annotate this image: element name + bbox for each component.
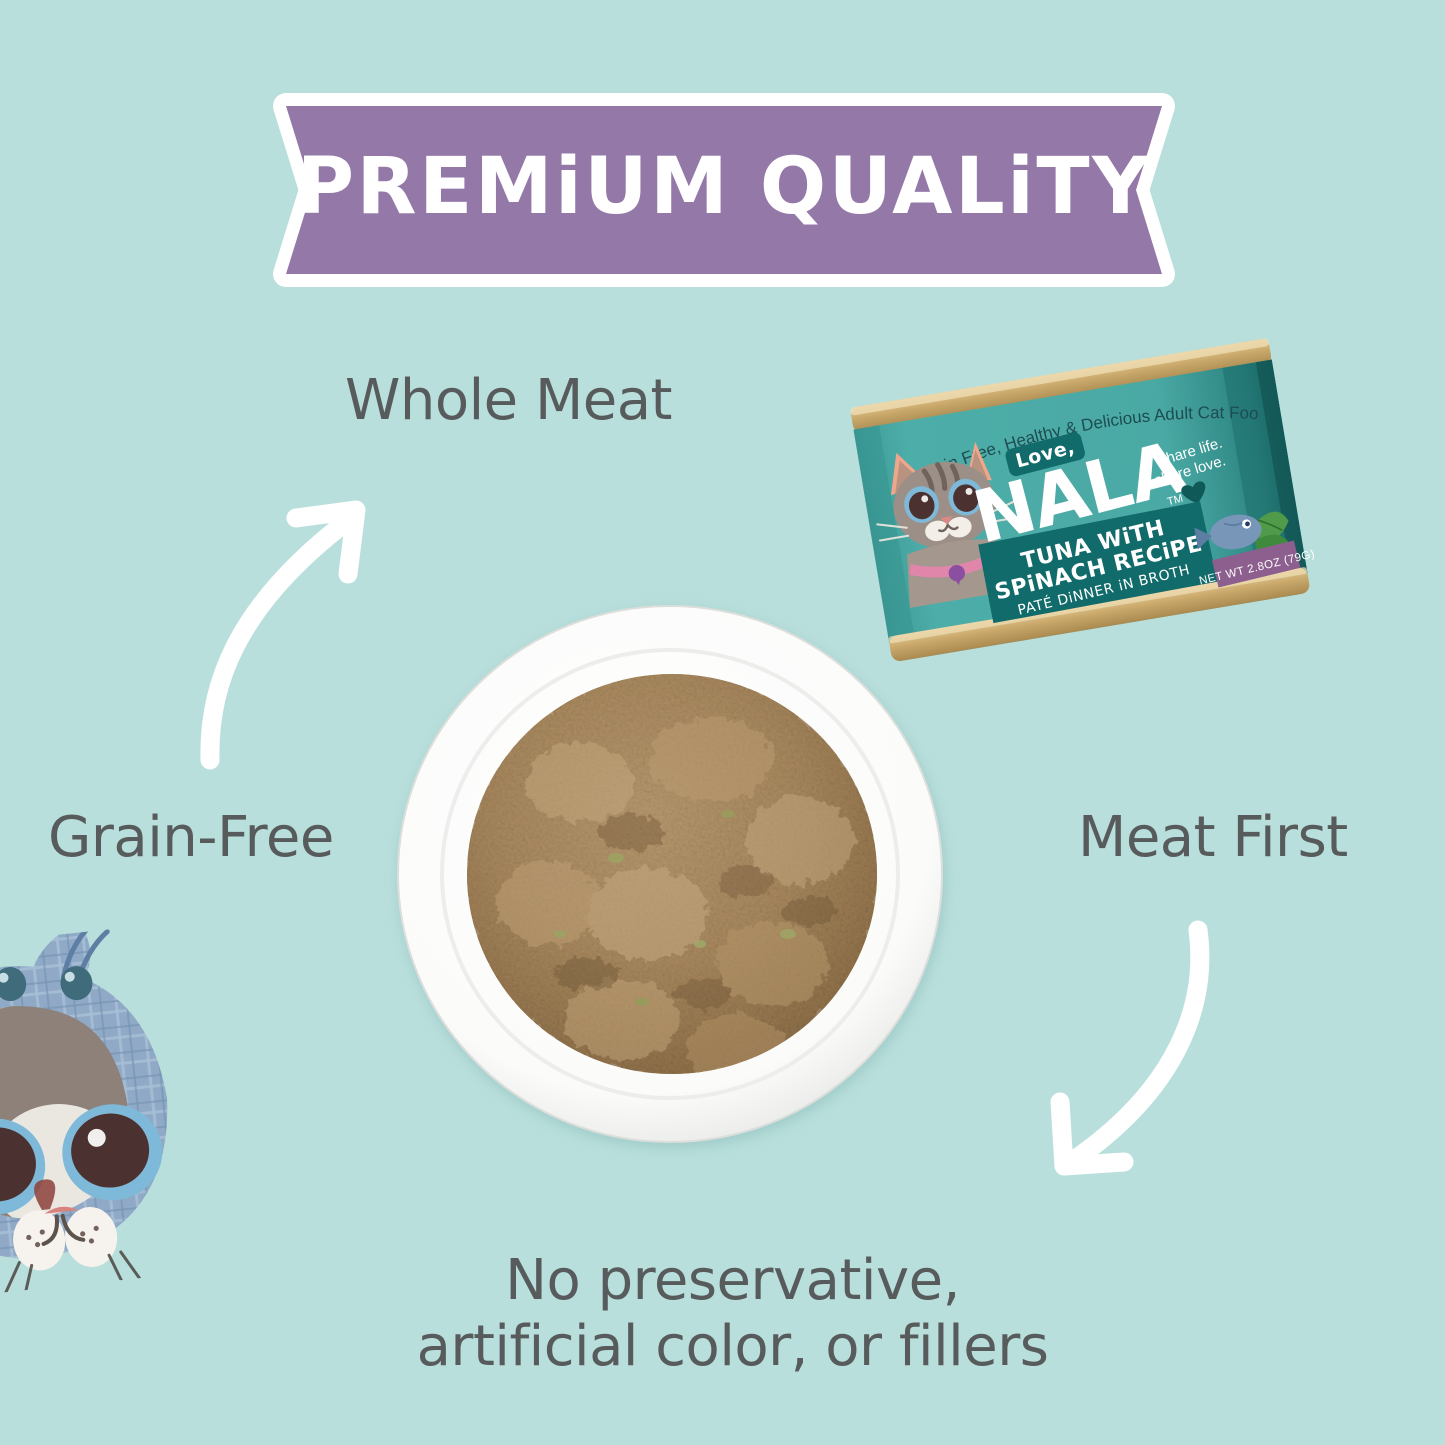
arrow-down-left-icon: [1018, 908, 1243, 1193]
feature-label-grain-free: Grain-Free: [48, 805, 334, 870]
infographic-canvas: PREMiUM QUALiTY Whole Meat Grain-Free Me…: [0, 0, 1445, 1445]
arrow-up-right-icon: [178, 478, 403, 773]
feature-label-whole-meat: Whole Meat: [345, 368, 672, 433]
premium-quality-banner: PREMiUM QUALiTY: [268, 92, 1180, 288]
banner-title: PREMiUM QUALiTY: [268, 92, 1180, 288]
feature-label-meat-first: Meat First: [1078, 805, 1348, 870]
can-body: Grain Free, Healthy & Delicious Adult Ca…: [816, 292, 1321, 667]
nala-mascot-cat: [0, 930, 314, 1330]
nala-cat-food-can: Grain Free, Healthy & Delicious Adult Ca…: [848, 340, 1328, 700]
